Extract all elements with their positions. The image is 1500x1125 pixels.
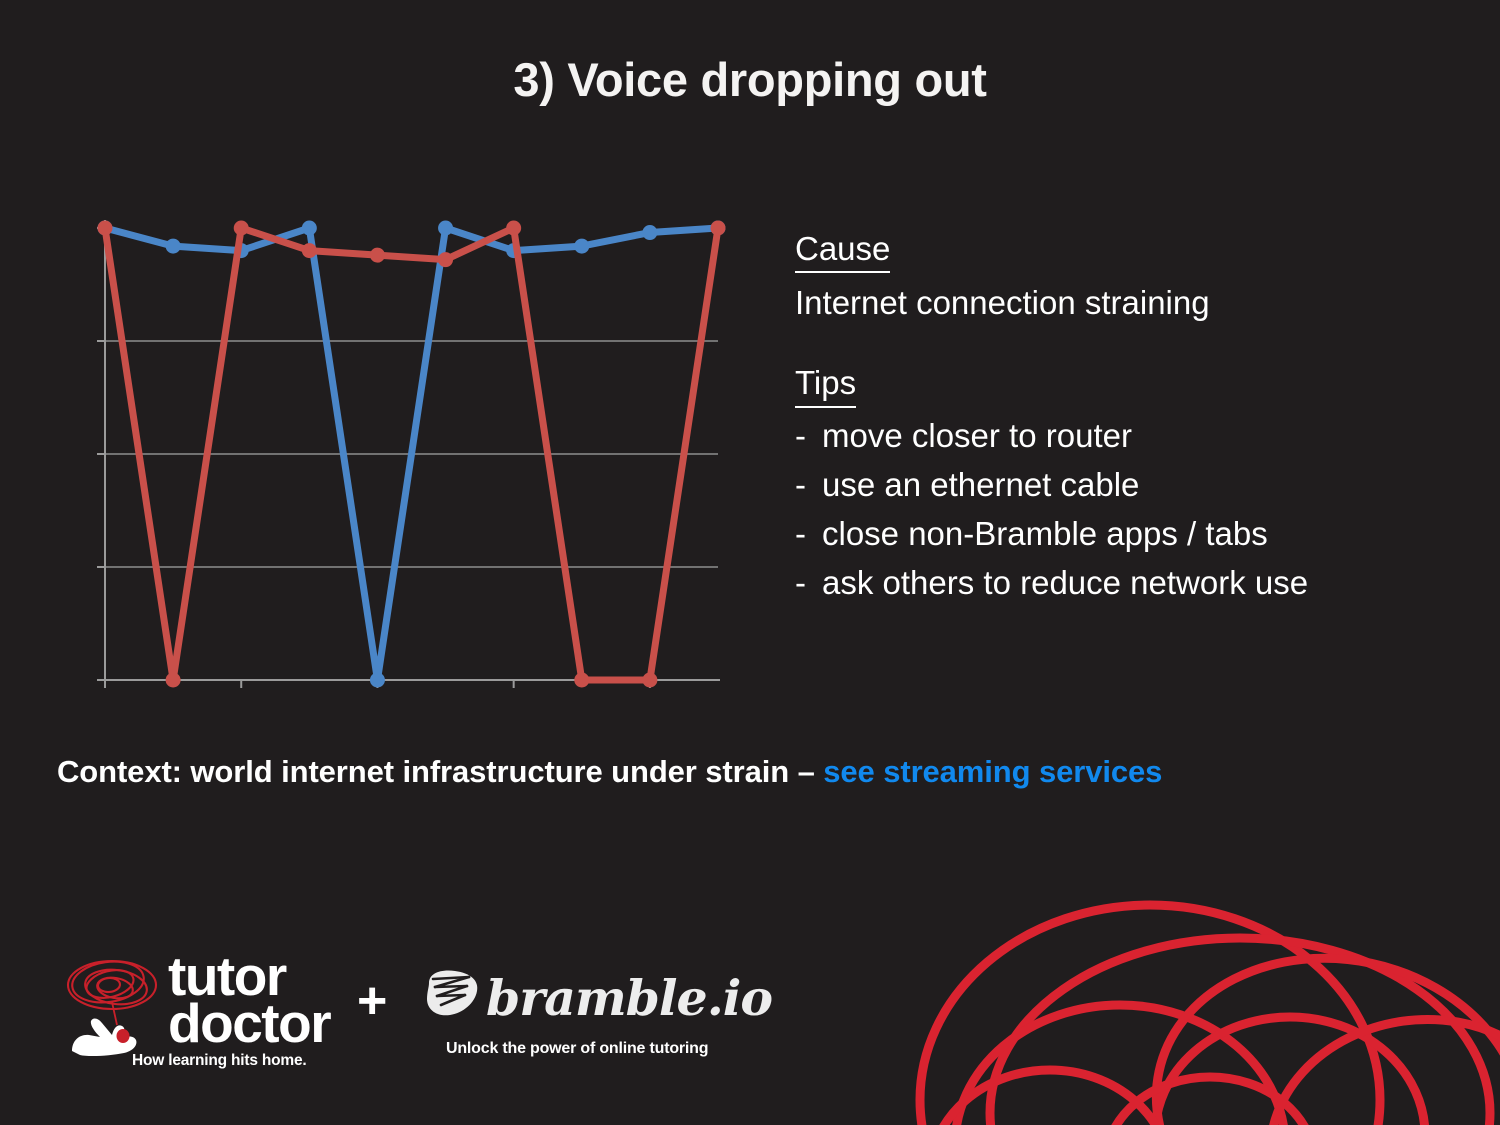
bramble-tagline: Unlock the power of online tutoring [446,1040,708,1058]
cause-heading-row: Cause [795,228,1435,273]
tutor-doctor-tagline: How learning hits home. [132,1052,307,1070]
cause-heading: Cause [795,228,890,273]
tips-heading: Tips [795,362,856,407]
tip-bullet: - [795,562,822,604]
slide-root: 3) Voice dropping out Cause Internet con… [0,0,1500,1125]
decorative-scribble [820,845,1500,1125]
data-point [234,221,249,236]
data-point [302,221,317,236]
tutor-doctor-scribble-hand-icon [60,955,165,1060]
tip-item: -use an ethernet cable [795,464,1435,506]
info-column: Cause Internet connection straining Tips… [795,228,1435,605]
tips-block: Tips -move closer to router-use an ether… [795,362,1435,604]
signal-quality-chart [90,200,750,700]
tip-item: -ask others to reduce network use [795,562,1435,604]
tip-label: close non-Bramble apps / tabs [822,513,1435,555]
data-point [370,673,385,688]
tutor-doctor-logo: tutor doctor How learning hits home. [60,955,335,1075]
data-point [574,239,589,254]
cause-text: Internet connection straining [795,282,1435,324]
data-point [438,252,453,267]
data-point [642,673,657,688]
data-point [166,239,181,254]
plus-icon: + [357,971,387,1031]
bramble-leaf-icon [423,967,483,1025]
tip-bullet: - [795,464,822,506]
data-point [574,673,589,688]
tip-item: -close non-Bramble apps / tabs [795,513,1435,555]
tutor-doctor-wordmark: tutor doctor [168,953,330,1048]
context-line: Context: world internet infrastructure u… [57,754,1457,790]
data-point [166,673,181,688]
bramble-logo: bramble.io Unlock the power of online tu… [423,967,723,1067]
data-point [438,221,453,236]
data-point [370,248,385,263]
tips-heading-row: Tips [795,362,1435,407]
tip-bullet: - [795,513,822,555]
context-prefix: Context: world internet infrastructure u… [57,754,823,789]
tips-list: -move closer to router-use an ethernet c… [795,415,1435,605]
chart-svg [90,200,750,700]
tip-label: move closer to router [822,415,1435,457]
tip-item: -move closer to router [795,415,1435,457]
tip-label: ask others to reduce network use [822,562,1435,604]
tutor-doctor-line2: doctor [168,1000,330,1047]
logo-bar: tutor doctor How learning hits home. + b… [60,955,760,1075]
cause-block: Cause Internet connection straining [795,228,1435,324]
tip-label: use an ethernet cable [822,464,1435,506]
streaming-services-link[interactable]: see streaming services [823,754,1162,789]
data-point [302,243,317,258]
data-point [711,221,726,236]
bramble-wordmark: bramble.io [486,969,772,1027]
page-title: 3) Voice dropping out [0,52,1500,107]
data-point [506,221,521,236]
data-point [642,225,657,240]
data-point [98,221,113,236]
tip-bullet: - [795,415,822,457]
